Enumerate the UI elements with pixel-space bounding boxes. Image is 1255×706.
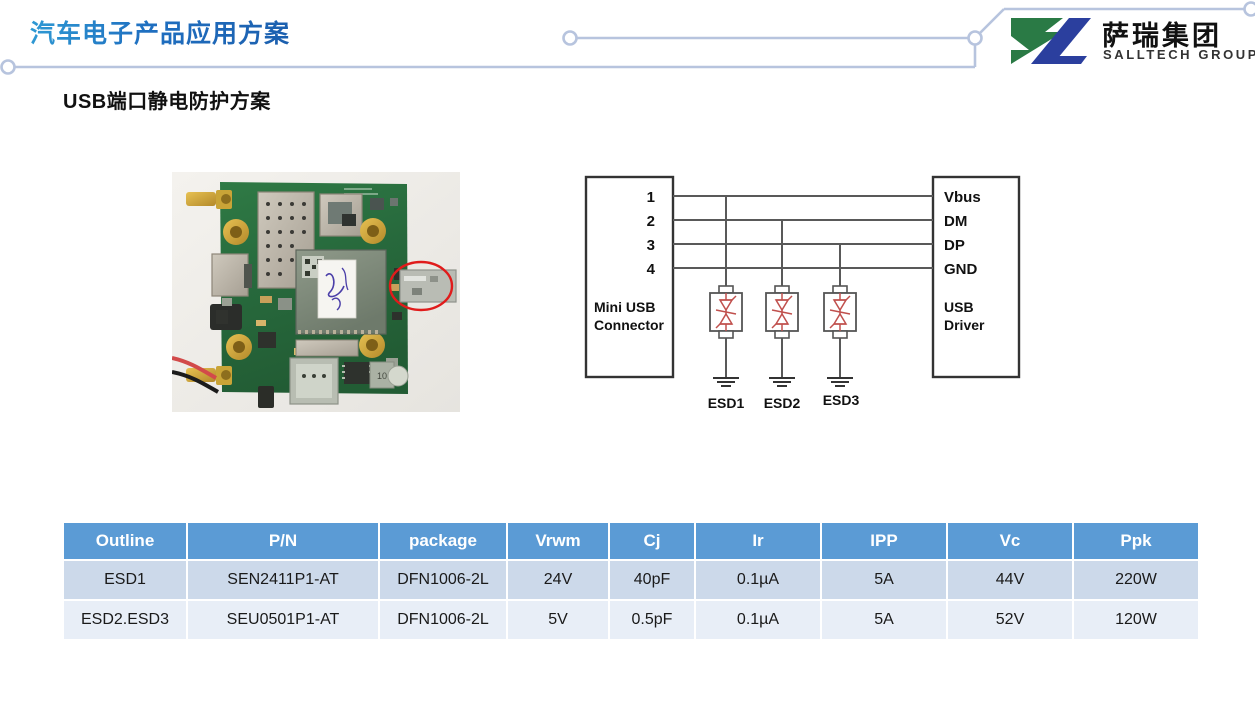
pin-label-2: 2 [647,213,655,230]
esd-spec-table: Outline P/N package Vrwm Cj Ir IPP Vc Pp… [64,523,1198,639]
connector-label-line-2: Connector [594,317,665,333]
driver-label-line-1: USB [944,299,974,315]
column-header-ir: Ir [696,523,822,559]
pin-label-3: 3 [647,237,655,254]
cell-vc: 44V [948,559,1074,599]
column-header-pn: P/N [188,523,380,559]
cell-package: DFN1006-2L [380,559,508,599]
column-header-cj: Cj [610,523,696,559]
salltech-logo-mark [1007,16,1093,66]
pin-label-4: 4 [647,261,656,278]
mini-usb-connector-block [586,177,673,377]
cell-ipp: 5A [822,599,948,639]
column-header-ipp: IPP [822,523,948,559]
cell-package: DFN1006-2L [380,599,508,639]
cell-ir: 0.1µA [696,599,822,639]
table-row: ESD1 SEN2411P1-AT DFN1006-2L 24V 40pF 0.… [64,559,1198,599]
signal-label-gnd: GND [944,261,978,278]
cell-ppk: 220W [1074,559,1198,599]
signal-label-dm: DM [944,213,967,230]
signal-label-vbus: Vbus [944,189,981,206]
cell-vrwm: 24V [508,559,610,599]
column-header-vrwm: Vrwm [508,523,610,559]
usb-esd-protection-circuit-diagram: 1 2 3 4 Mini USB Mini USB Connector Vbus… [570,160,1040,425]
cell-outline: ESD2.ESD3 [64,599,188,639]
table-row: ESD2.ESD3 SEU0501P1-AT DFN1006-2L 5V 0.5… [64,599,1198,639]
column-header-ppk: Ppk [1074,523,1198,559]
cell-vrwm: 5V [508,599,610,639]
page-title: 汽车电子产品应用方案 [30,14,290,50]
device-label-esd1: ESD1 [708,395,745,411]
cell-outline: ESD1 [64,559,188,599]
section-subtitle: USB端口静电防护方案 [63,85,271,114]
column-header-outline: Outline [64,523,188,559]
esd-device-symbols [710,286,856,338]
driver-label-line-2: Driver [944,317,985,333]
connector-label-line-1: Mini USB [594,299,655,315]
cell-pn: SEU0501P1-AT [188,599,380,639]
device-label-esd3: ESD3 [823,392,860,408]
device-label-esd2: ESD2 [764,395,801,411]
cell-vc: 52V [948,599,1074,639]
column-header-vc: Vc [948,523,1074,559]
cell-ir: 0.1µA [696,559,822,599]
cell-ppk: 120W [1074,599,1198,639]
cell-pn: SEN2411P1-AT [188,559,380,599]
ground-symbols [713,378,853,386]
table-header-row: Outline P/N package Vrwm Cj Ir IPP Vc Pp… [64,523,1198,559]
cell-cj: 0.5pF [610,599,696,639]
column-header-package: package [380,523,508,559]
cell-ipp: 5A [822,559,948,599]
signal-label-dp: DP [944,237,965,254]
cell-cj: 40pF [610,559,696,599]
pin-label-1: 1 [647,189,655,206]
pcb-board-photo: 10 [172,172,460,412]
svg-text:10: 10 [377,371,387,381]
brand-logo: 萨瑞集团 SALLTECH GROUP [1007,13,1247,69]
logo-name-en: SALLTECH GROUP [1103,47,1255,62]
